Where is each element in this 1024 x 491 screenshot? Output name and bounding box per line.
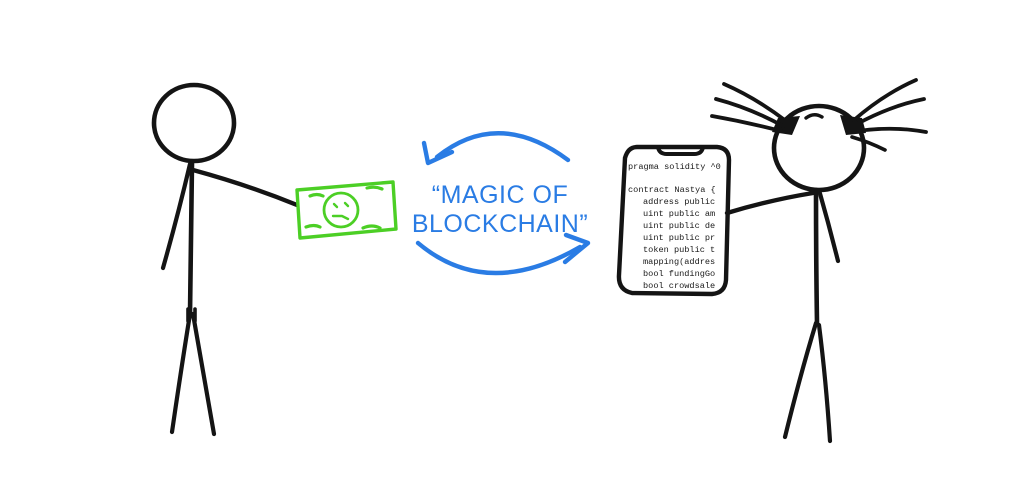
left-figure-head: [154, 85, 234, 161]
scene-svg: “MAGIC OF BLOCKCHAIN” pragma solidity ^0…: [0, 0, 1024, 491]
code-line-0: pragma solidity ^0: [628, 162, 721, 172]
banknote-outline: [297, 182, 396, 238]
code-line-5: uint public de: [643, 221, 715, 231]
right-figure-right-leg: [819, 325, 830, 441]
banknote-ornament-top-right: [367, 187, 382, 189]
left-figure-right-leg: [193, 314, 214, 434]
banknote-ornament-bottom-left: [306, 226, 320, 228]
banknote-ornament-bottom-right: [363, 226, 380, 228]
left-figure-left-leg: [172, 314, 190, 432]
code-line-2: contract Nastya {: [628, 185, 716, 195]
caption: “MAGIC OF BLOCKCHAIN”: [412, 181, 588, 238]
banknote-ornament-top-left: [310, 195, 323, 197]
right-figure-left-leg: [785, 323, 816, 437]
illustration-canvas: “MAGIC OF BLOCKCHAIN” pragma solidity ^0…: [0, 0, 1024, 491]
left-figure-hanging-arm: [163, 164, 190, 268]
banknote: [297, 182, 396, 238]
right-figure: [712, 80, 926, 441]
right-figure-hair-strand-r1: [854, 80, 916, 120]
code-line-3: address public: [643, 197, 715, 207]
banknote-face-right-eye: [345, 203, 348, 206]
code-line-0-text: pragma solidity: [628, 162, 711, 172]
left-figure-outstretched-arm: [193, 170, 297, 205]
cycle-bottom-arc: [418, 243, 580, 273]
left-figure: [154, 85, 297, 434]
right-figure-hair-strand-r4: [852, 137, 885, 150]
right-figure-hanging-arm: [819, 190, 838, 261]
phone: pragma solidity ^0 contract Nastya { add…: [619, 147, 729, 294]
cycle-top-arc: [437, 133, 568, 160]
right-figure-crown-tuft: [806, 115, 822, 118]
code-line-8: mapping(addres: [643, 257, 715, 267]
caption-line-2: BLOCKCHAIN”: [412, 210, 588, 238]
code-line-6: uint public pr: [643, 233, 715, 243]
banknote-face-left-eye: [334, 204, 337, 207]
code-line-9: bool fundingGo: [643, 269, 715, 279]
code-line-0-accent: ^0: [711, 162, 721, 172]
cycle-top-arrowhead: [424, 143, 452, 163]
code-line-10: bool crowdsale: [643, 281, 715, 291]
caption-line-1: “MAGIC OF: [432, 181, 568, 209]
right-figure-torso: [816, 190, 817, 323]
phone-code-block: pragma solidity ^0 contract Nastya { add…: [628, 162, 721, 291]
left-figure-torso: [190, 163, 192, 314]
right-figure-hair-strand-r3: [858, 129, 926, 132]
banknote-face-circle: [324, 193, 358, 227]
right-figure-outstretched-arm: [727, 193, 813, 213]
code-line-7: token public t: [643, 245, 715, 255]
code-line-4: uint public am: [643, 209, 715, 219]
banknote-face-mouth: [333, 216, 348, 219]
